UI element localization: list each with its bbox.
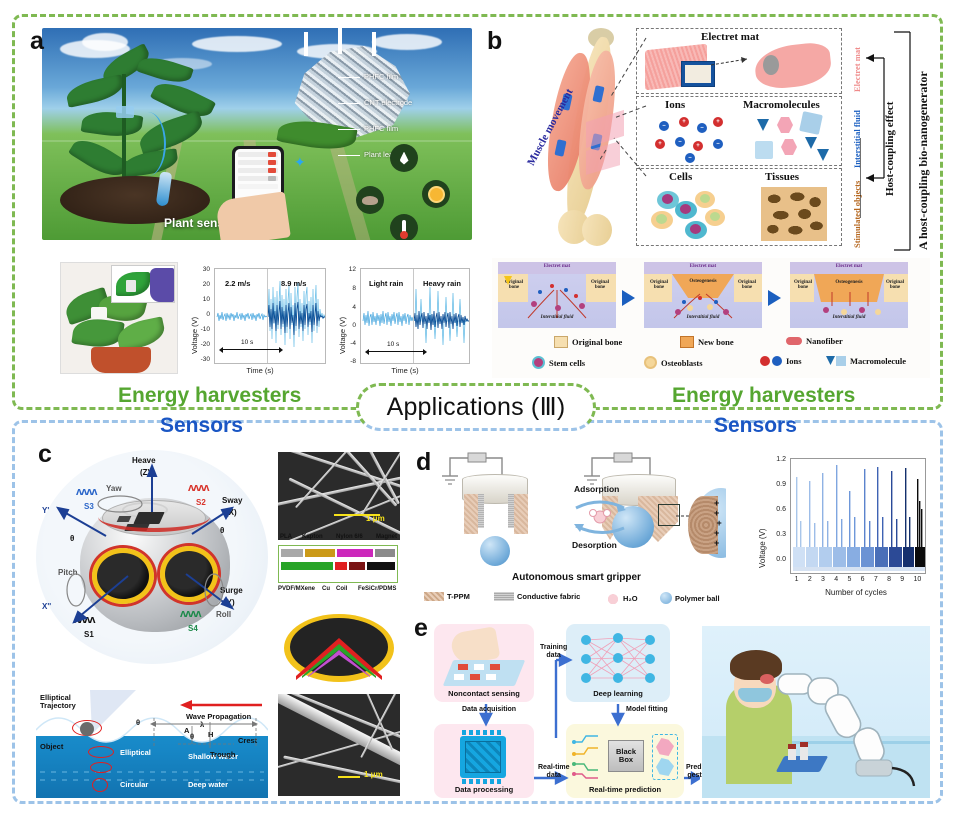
box-title-ions: Ions [665,99,685,111]
dchart-ytick-0: 1.2 [762,456,786,463]
legend-conductive-fabric: Conductive fabric [494,592,580,601]
rain-voltage-chart: Voltage (V) 12 8 4 0 -4 -8 Light rain He… [334,262,476,378]
chart2-plot-area: Light rain Heavy rain 10 s [360,268,470,364]
panel-letter-a: a [30,27,44,56]
dchart-xtick-5: 5 [847,576,851,583]
chart1-ytick-4: -10 [192,326,210,333]
legend-stem-cells: Stem cells [532,356,585,369]
legend-original-bone: Original bone [554,336,622,348]
legend-osteoblasts: Osteoblasts [644,356,703,369]
panel-b-bracket [860,28,920,254]
legend-polymer-ball: Polymer ball [660,592,720,604]
applications-capsule: Applications (Ⅲ) [356,383,596,431]
panel-b-legend: Original bone New bone Nanofiber Stem ce… [492,336,930,376]
chart1-ytick-5: -20 [192,341,210,348]
polymer-ball-swatch [660,592,672,604]
sem-scale-label-2: 1 μm [364,770,383,779]
chart1-scale-label: 10 s [241,339,253,346]
sem-scale-label-1: 1 μm [366,514,385,523]
dchart-xtick-2: 2 [808,576,812,583]
dchart-xtick-4: 4 [834,576,838,583]
panel-c-material-stack [278,545,398,583]
wave-measure-lines [148,714,264,754]
chart2-xlabel: Time (s) [334,366,476,375]
sun-icon [422,180,450,208]
band-energy-harvesters-left: Energy harvesters [118,384,301,408]
panel-c-device-cutaway [278,608,400,690]
chart2-ytick-3: 0 [336,322,356,329]
panel-letter-c: c [38,440,52,469]
wave-propagation-arrow [174,698,264,712]
panel-b-box-ions-macromolecules: Ions Macromolecules – + – + + – + – – [636,96,842,166]
gripper-caption: Autonomous smart gripper [512,572,641,583]
original-bone-swatch [554,336,568,348]
dchart-xlabel: Number of cycles [776,588,936,597]
panel-c-sem-nanofibers: 1 μm [278,452,400,540]
wave-deep-label: Deep water [188,780,228,789]
panel-b-bone-process: Original bone Original bone Electret mat… [492,258,930,378]
step3-top-label: Electret mat [790,264,908,269]
chart2-ytick-5: -8 [336,358,356,365]
dchart-xtick-1: 1 [795,576,799,583]
legend-new-bone: New bone [680,336,734,348]
chart2-ytick-2: 4 [336,304,356,311]
ion-positive-swatch [760,356,770,366]
earrow-training-data: Trainingdata [540,644,567,659]
h2o-molecule-icon [606,592,620,604]
stack-label-magnet: Magnet [376,534,397,540]
legend-t-ppm: T-PPM [424,592,470,601]
panel-c-axis-arrows [36,450,268,664]
figure-canvas: a Plant sensor [0,0,955,816]
chart1-xlabel: Time (s) [186,366,334,375]
chart1-ylabel: Voltage (V) [190,317,199,354]
chart1-ytick-1: 20 [192,281,210,288]
panel-c-wave-diagram: EllipticalTrajectory Object Elliptical C… [36,690,268,798]
panel-c-sphere-diagram: Heave (Z) Yaw Sway (X) Surge (Y) Roll Pi… [36,450,268,664]
step1-top-label: Electret mat [498,264,616,269]
legend-macromolecule: Macromolecule [826,356,906,366]
chart1-segment-1: 8.9 m/s [281,279,306,288]
chart2-segment-1: Heavy rain [423,279,461,288]
stack-label-pvdf-mxene: PVDF/MXene [278,586,315,592]
orbit-elliptical-2 [90,762,112,773]
hero-label-2: PHFC film [338,124,466,133]
wave-circular-label: Circular [120,780,148,789]
wind-voltage-chart: Voltage (V) 30 20 10 0 -10 -20 -30 2.2 m… [186,262,334,378]
chart2-segment-0: Light rain [369,279,403,288]
chart1-ytick-2: 10 [192,296,210,303]
band-sensors-left: Sensors [160,414,243,438]
stack-label-coil: Coil [336,586,347,592]
stack-label-kapton: Kapton [302,534,323,540]
earrow-model-fitting: Model fitting [626,706,668,714]
ion-negative-swatch [772,356,782,366]
panel-letter-d: d [416,448,431,477]
orbit-elliptical-1 [88,746,114,758]
osteoblast-swatch [644,356,657,369]
stack-label-cu: Cu [322,586,330,592]
adsorption-label: Adsorption [574,484,619,494]
dchart-xticks: 1 2 3 4 5 6 7 8 9 10 [790,576,926,583]
earrow-realtime-data: Real-timedata [538,764,570,779]
panel-e-robot-scene [702,626,930,798]
panel-b-connectors [600,30,650,260]
thermometer-icon [390,214,418,240]
chart2-ytick-4: -4 [336,340,356,347]
panel-b-box-cells-tissues: Cells Tissues [636,168,842,246]
box-title-tissues: Tissues [765,171,799,183]
panel-letter-b: b [487,27,502,56]
box-title-macromolecules: Macromolecules [743,99,820,111]
legend-ions: Ions [760,356,802,366]
stack-label-nylon: Nylon 6/6 [336,534,363,540]
desorption-label: Desorption [572,540,617,550]
soil-icon [356,186,384,214]
chart2-ytick-0: 12 [336,266,356,273]
step2-top-label: Electret mat [644,264,762,269]
stack-label-pla: PLA [280,534,292,540]
hero-label-1: CNT electrode [338,98,466,107]
wave-theta-label-1: θ [136,718,140,727]
panel-a-plant-photo [60,262,178,374]
water-drop-icon [390,144,418,172]
panel-b-box-electret-mat: Electret mat [636,28,842,94]
chart1-ytick-0: 30 [192,266,210,273]
panel-letter-e: e [414,614,428,643]
wave-object-label: Object [40,742,63,751]
electret-arrow [711,57,755,69]
chart2-ytick-1: 8 [336,285,356,292]
dchart-xtick-7: 7 [874,576,878,583]
gripper-open-illustration [436,450,556,570]
box-title-electret-mat: Electret mat [701,31,759,43]
dchart-xtick-3: 3 [821,576,825,583]
legend-h2o: H₂O [606,592,638,604]
band-energy-harvesters-right: Energy harvesters [672,384,855,408]
nanofiber-swatch [786,337,802,345]
dchart-ytick-1: 0.9 [762,481,786,488]
wave-elliptical-trajectory-label: EllipticalTrajectory [40,694,76,711]
dchart-plot-area [790,458,926,574]
dchart-bars [791,459,926,574]
chart1-ytick-3: 0 [192,311,210,318]
dchart-xtick-6: 6 [861,576,865,583]
chart2-scale-label: 10 s [387,341,399,348]
applications-label: Applications (Ⅲ) [387,392,566,422]
chart1-segment-0: 2.2 m/s [225,279,250,288]
macromolecule-square-swatch [836,356,846,366]
stem-cell-swatch [532,356,545,369]
earrow-data-acquisition: Data acquisition [462,706,516,714]
t-ppm-swatch [424,592,444,601]
dchart-xtick-8: 8 [887,576,891,583]
box-title-cells: Cells [669,171,692,183]
dchart-ytick-2: 0.6 [762,506,786,513]
orbit-circular [92,778,108,792]
legend-nanofiber: Nanofiber [786,336,843,346]
leaf-device-inset-photo [111,265,175,303]
macromolecule-triangle-swatch [826,356,835,365]
chart1-ytick-6: -30 [192,356,210,363]
dchart-xtick-9: 9 [900,576,904,583]
chart1-plot-area: 2.2 m/s 8.9 m/s 10 s [214,268,326,364]
dchart-ytick-3: 0.3 [762,531,786,538]
bone-step-1: Original bone Original bone Electret mat… [498,262,616,328]
robot-arm-icon [764,662,924,792]
wave-elliptical-label: Elliptical [120,748,151,757]
band-sensors-right: Sensors [714,414,797,438]
stack-label-fesicr-pdms: FeSiCr/PDMS [358,586,396,592]
panel-c-sem-single-fiber: 1 μm [278,694,400,796]
conductive-fabric-swatch [494,592,514,601]
dchart-xtick-10: 10 [913,576,921,583]
bone-step-3: Original bone Original bone Electret mat… [790,262,908,328]
dchart-ytick-4: 0.0 [762,556,786,563]
hero-label-0: PHFC film [338,72,466,81]
adsorption-cycle-arrows [566,494,636,540]
panel-a-hero-illustration: Plant sensor PHFC film CNT electrode PHF… [42,28,472,240]
gripper-voltage-chart: Voltage (V) 1.2 0.9 0.6 0.3 0.0 [752,452,932,604]
new-bone-swatch [680,336,694,348]
bone-step-2: Original bone Original bone Electret mat… [644,262,762,328]
